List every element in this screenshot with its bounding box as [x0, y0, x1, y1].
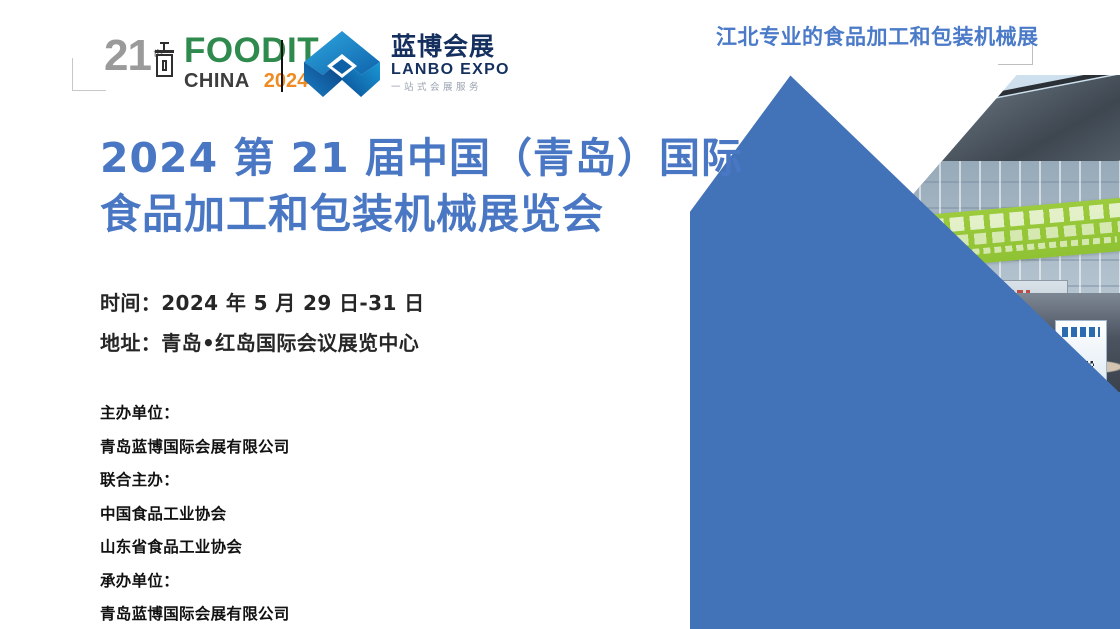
- poster-header: 21th FOODIT CHINA 2024: [0, 0, 700, 110]
- lanbo-name-cn: 蓝博会展: [391, 34, 510, 60]
- foodit-brand-text: FOODIT: [184, 34, 319, 67]
- title-line-2: 食品加工和包装机械展览会: [100, 186, 720, 242]
- organizer-line: 联合主办：: [100, 464, 290, 498]
- lanbo-wordmark: 蓝博会展 LANBO EXPO 一站式会展服务: [391, 34, 510, 94]
- exhibition-poster: A1展厅 21th FOODIT CHINA 2024: [0, 0, 1120, 629]
- organizer-line: 承办单位：: [100, 565, 290, 599]
- lanbo-expo-logo: 蓝博会展 LANBO EXPO 一站式会展服务: [301, 28, 510, 100]
- foodit-china-logo: 21th FOODIT CHINA 2024: [104, 34, 319, 90]
- lanbo-diamond-ribbon-icon: [301, 28, 383, 100]
- organizer-line: 山东省食品工业协会: [100, 531, 290, 565]
- lanbo-slogan: 一站式会展服务: [391, 81, 510, 94]
- kiosk-header-text: [1062, 327, 1100, 337]
- artwork-panel: A1展厅: [690, 0, 1120, 629]
- edition-number-text: 21: [104, 31, 151, 80]
- organizer-line: 青岛蓝博国际会展有限公司: [100, 598, 290, 629]
- edition-number: 21th: [104, 34, 151, 78]
- event-venue: 地址：青岛•红岛国际会议展览中心: [100, 323, 425, 363]
- crop-mark-top-left: [72, 58, 106, 91]
- event-info: 时间：2024 年 5 月 29 日-31 日 地址：青岛•红岛国际会议展览中心: [100, 283, 425, 363]
- title-line-1: 2024 第 21 届中国（青岛）国际: [100, 130, 720, 186]
- lanbo-name-en: LANBO EXPO: [391, 60, 510, 79]
- organizer-block: 主办单位： 青岛蓝博国际会展有限公司 联合主办： 中国食品工业协会 山东省食品工…: [100, 397, 290, 629]
- china-seal-icon: [154, 42, 175, 78]
- foodit-wordmark: FOODIT CHINA 2024: [184, 34, 319, 93]
- poster-tagline: 江北专业的食品加工和包装机械展: [716, 21, 1039, 51]
- logo-divider: [281, 40, 283, 92]
- event-date: 时间：2024 年 5 月 29 日-31 日: [100, 283, 425, 323]
- organizer-line: 主办单位：: [100, 397, 290, 431]
- foodit-country-text: CHINA: [184, 70, 250, 93]
- poster-title: 2024 第 21 届中国（青岛）国际 食品加工和包装机械展览会: [100, 130, 720, 242]
- organizer-line: 青岛蓝博国际会展有限公司: [100, 431, 290, 465]
- organizer-line: 中国食品工业协会: [100, 498, 290, 532]
